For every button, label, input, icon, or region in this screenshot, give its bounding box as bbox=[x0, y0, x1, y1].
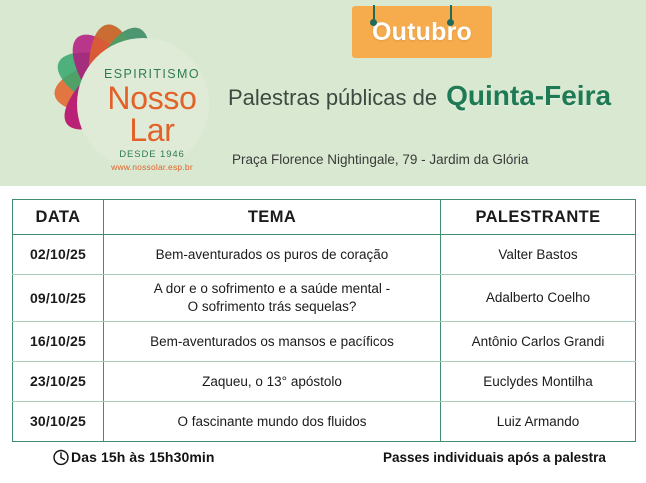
theme-line: A dor e o sofrimento e a saúde mental - bbox=[110, 280, 434, 298]
cell-date: 30/10/25 bbox=[13, 402, 104, 442]
theme-line: O sofrimento trás sequelas? bbox=[110, 298, 434, 316]
cell-speaker: Euclydes Montilha bbox=[441, 362, 636, 402]
cell-date: 23/10/25 bbox=[13, 362, 104, 402]
cell-date: 02/10/25 bbox=[13, 235, 104, 275]
table-row: 30/10/25O fascinante mundo dos fluidosLu… bbox=[13, 402, 636, 442]
table-header: DATA TEMA PALESTRANTE bbox=[13, 200, 636, 235]
time-info: Das 15h às 15h30min bbox=[52, 448, 215, 466]
cell-speaker: Luiz Armando bbox=[441, 402, 636, 442]
column-header-date: DATA bbox=[13, 200, 104, 235]
month-banner: Outubro bbox=[352, 0, 492, 62]
cell-theme: Bem-aventurados os mansos e pacíficos bbox=[104, 322, 441, 362]
theme-line: Zaqueu, o 13° apóstolo bbox=[110, 373, 434, 391]
column-header-speaker: PALESTRANTE bbox=[441, 200, 636, 235]
header-banner: ESPIRITISMO Nosso Lar DESDE 1946 www.nos… bbox=[0, 0, 646, 186]
column-header-theme: TEMA bbox=[104, 200, 441, 235]
time-label: Das 15h às 15h30min bbox=[71, 449, 215, 465]
pin-left-icon bbox=[370, 19, 377, 26]
cell-theme: A dor e o sofrimento e a saúde mental -O… bbox=[104, 275, 441, 322]
logo-line-espiritismo: ESPIRITISMO bbox=[86, 68, 218, 81]
table-header-row: DATA TEMA PALESTRANTE bbox=[13, 200, 636, 235]
theme-line: Bem-aventurados os puros de coração bbox=[110, 246, 434, 264]
logo-line-nossolar: Nosso Lar bbox=[86, 82, 218, 146]
table-body: 02/10/25Bem-aventurados os puros de cora… bbox=[13, 235, 636, 442]
table-row: 16/10/25Bem-aventurados os mansos e pací… bbox=[13, 322, 636, 362]
cell-date: 16/10/25 bbox=[13, 322, 104, 362]
cell-speaker: Adalberto Coelho bbox=[441, 275, 636, 322]
month-label: Outubro bbox=[372, 18, 472, 47]
theme-line: O fascinante mundo dos fluidos bbox=[110, 413, 434, 431]
cell-theme: Zaqueu, o 13° apóstolo bbox=[104, 362, 441, 402]
pin-right-icon bbox=[447, 19, 454, 26]
logo-line-desde: DESDE 1946 bbox=[86, 150, 218, 160]
venue-address: Praça Florence Nightingale, 79 - Jardim … bbox=[232, 152, 632, 167]
cell-speaker: Valter Bastos bbox=[441, 235, 636, 275]
theme-line: Bem-aventurados os mansos e pacíficos bbox=[110, 333, 434, 351]
passes-label: Passes individuais após a palestra bbox=[383, 450, 606, 465]
logo-text: ESPIRITISMO Nosso Lar DESDE 1946 www.nos… bbox=[86, 68, 218, 172]
page-title-weekday: Quinta-Feira bbox=[446, 80, 611, 112]
clock-icon bbox=[52, 448, 70, 466]
cell-theme: Bem-aventurados os puros de coração bbox=[104, 235, 441, 275]
footer: Das 15h às 15h30min Passes individuais a… bbox=[0, 440, 646, 483]
table-row: 02/10/25Bem-aventurados os puros de cora… bbox=[13, 235, 636, 275]
cell-theme: O fascinante mundo dos fluidos bbox=[104, 402, 441, 442]
table-row: 23/10/25Zaqueu, o 13° apóstoloEuclydes M… bbox=[13, 362, 636, 402]
cell-speaker: Antônio Carlos Grandi bbox=[441, 322, 636, 362]
page-title: Palestras públicas de Quinta-Feira bbox=[228, 80, 638, 122]
cell-date: 09/10/25 bbox=[13, 275, 104, 322]
table-row: 09/10/25A dor e o sofrimento e a saúde m… bbox=[13, 275, 636, 322]
logo: ESPIRITISMO Nosso Lar DESDE 1946 www.nos… bbox=[8, 0, 220, 160]
logo-line-website: www.nossolar.esp.br bbox=[86, 163, 218, 172]
page-title-prefix: Palestras públicas de bbox=[228, 85, 437, 111]
schedule-table: DATA TEMA PALESTRANTE 02/10/25Bem-aventu… bbox=[12, 199, 636, 442]
